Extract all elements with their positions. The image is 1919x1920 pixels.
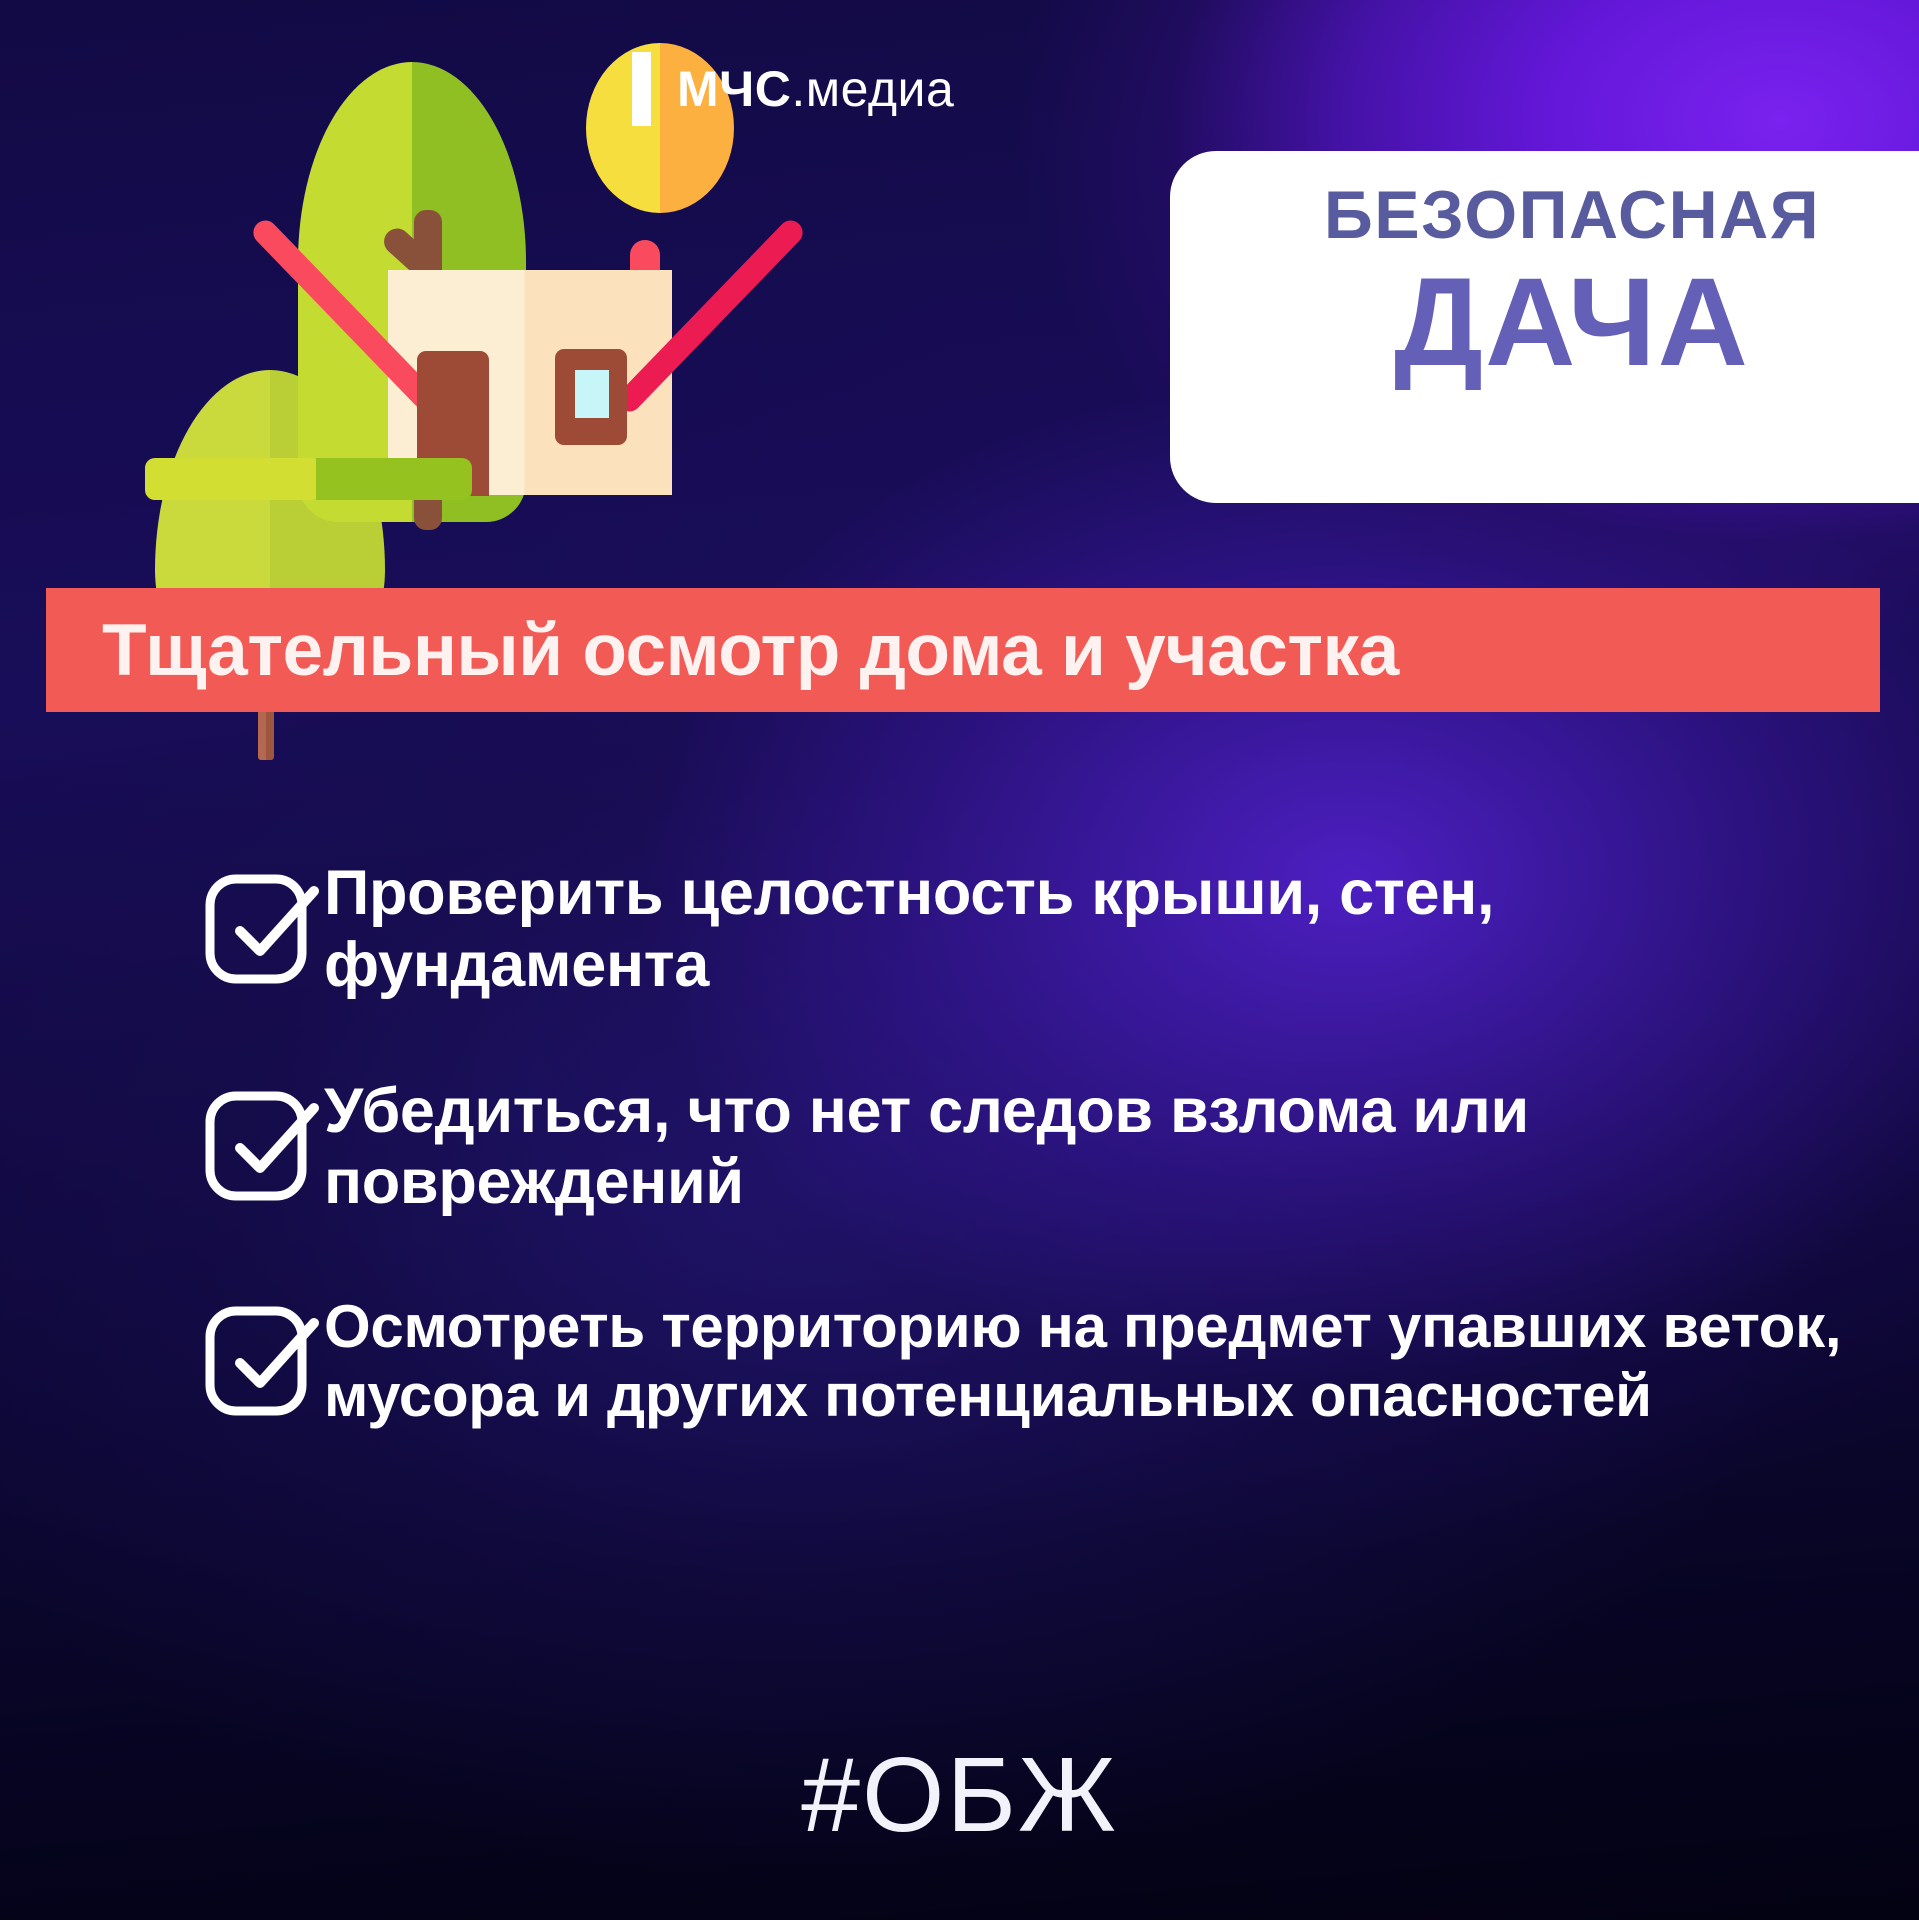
vertical-bar-icon <box>632 52 651 126</box>
list-item-label: Осмотреть территорию на предмет упавших … <box>324 1293 1876 1430</box>
brand-logo: МЧС.медиа <box>632 52 954 126</box>
list-item-label: Убедиться, что нет следов взлома или пов… <box>324 1076 1876 1220</box>
list-item: Осмотреть территорию на предмет упавших … <box>196 1293 1876 1430</box>
ground-left <box>145 458 320 500</box>
page-title: Тщательный осмотр дома и участка <box>46 609 1399 692</box>
footer-hashtag: #ОБЖ <box>0 1735 1919 1856</box>
campaign-badge-line2: ДАЧА <box>1170 257 1919 390</box>
house-window-pane <box>575 370 609 418</box>
checkbox-check-icon <box>196 865 324 995</box>
title-banner: Тщательный осмотр дома и участка <box>46 588 1880 712</box>
brand-logo-text: МЧС.медиа <box>677 60 954 118</box>
campaign-badge-line1: БЕЗОПАСНАЯ <box>1170 181 1919 249</box>
poster-canvas: МЧС.медиа БЕЗОПАСНАЯ ДАЧА Тщательный осм… <box>0 0 1919 1920</box>
checklist: Проверить целостность крыши, стен, фунда… <box>196 858 1876 1504</box>
list-item: Проверить целостность крыши, стен, фунда… <box>196 858 1876 1002</box>
list-item: Убедиться, что нет следов взлома или пов… <box>196 1076 1876 1220</box>
checkbox-check-icon <box>196 1297 324 1427</box>
list-item-label: Проверить целостность крыши, стен, фунда… <box>324 858 1876 1002</box>
campaign-badge: БЕЗОПАСНАЯ ДАЧА <box>1170 151 1919 503</box>
brand-logo-suffix: .медиа <box>791 61 954 117</box>
brand-logo-main: МЧС <box>677 61 791 117</box>
ground-right <box>316 458 472 500</box>
checkbox-check-icon <box>196 1082 324 1212</box>
